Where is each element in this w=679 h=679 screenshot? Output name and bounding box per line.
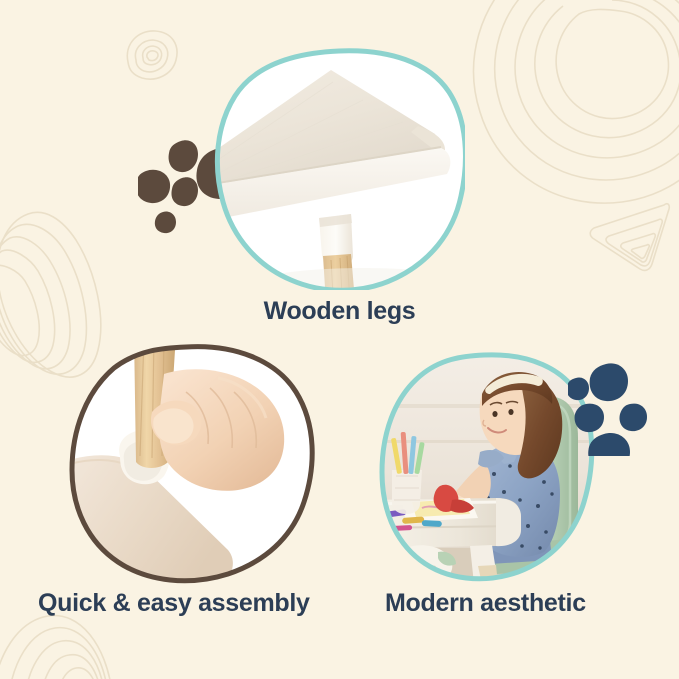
feature-panel-assembly: Quick & easy assembly <box>0 330 340 679</box>
photo-frame-aesthetic <box>378 352 596 584</box>
caption-wooden-legs: Wooden legs <box>0 297 679 326</box>
feature-panel-wooden-legs: Wooden legs <box>0 0 679 330</box>
feature-panel-aesthetic: Modern aesthetic <box>340 330 679 679</box>
photo-aesthetic <box>378 352 596 584</box>
photo-wooden-legs <box>213 48 465 290</box>
caption-assembly: Quick & easy assembly <box>38 589 310 618</box>
blob-dot <box>169 140 198 172</box>
blob-dot <box>619 404 647 431</box>
photo-frame-wooden-legs <box>213 48 465 290</box>
photo-frame-assembly <box>68 344 318 586</box>
caption-aesthetic: Modern aesthetic <box>385 589 586 618</box>
blob-dot <box>171 177 198 206</box>
blob-dot <box>138 170 170 203</box>
eye <box>492 411 497 417</box>
photo-assembly <box>68 344 318 586</box>
eye <box>508 409 513 415</box>
feature-infographic: Wooden legs <box>0 0 679 679</box>
blob-dot <box>155 212 176 234</box>
